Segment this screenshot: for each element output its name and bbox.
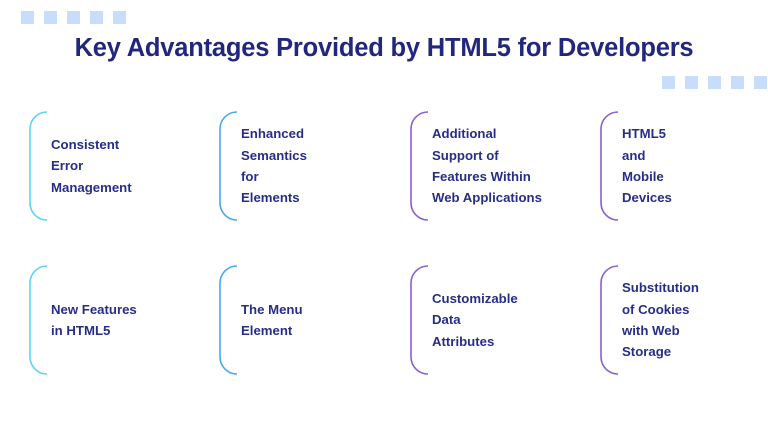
decor-squares-right [662,76,767,89]
decor-square [662,76,675,89]
decor-square [44,11,57,24]
card-label: The Menu Element [218,299,307,342]
cards-grid: Consistent Error Management Enhanced Sem… [0,110,768,418]
decor-squares-top-left [21,11,126,24]
card[interactable]: New Features in HTML5 [28,264,204,376]
card-label: HTML5 and Mobile Devices [599,123,676,209]
card-label: Customizable Data Attributes [409,288,522,352]
decor-square [90,11,103,24]
card[interactable]: Consistent Error Management [28,110,204,222]
card-label: Enhanced Semantics for Elements [218,123,311,209]
decor-square [67,11,80,24]
card[interactable]: Substitution of Cookies with Web Storage [599,264,768,376]
card-label: Substitution of Cookies with Web Storage [599,277,703,363]
card-label: Consistent Error Management [28,134,136,198]
card[interactable]: Enhanced Semantics for Elements [218,110,394,222]
decor-square [113,11,126,24]
decor-square [754,76,767,89]
card[interactable]: Additional Support of Features Within We… [409,110,585,222]
card[interactable]: HTML5 and Mobile Devices [599,110,768,222]
page-title: Key Advantages Provided by HTML5 for Dev… [0,34,768,63]
card[interactable]: Customizable Data Attributes [409,264,585,376]
decor-square [21,11,34,24]
decor-square [685,76,698,89]
card-label: New Features in HTML5 [28,299,141,342]
card[interactable]: The Menu Element [218,264,394,376]
card-row-1: Consistent Error Management Enhanced Sem… [0,110,768,222]
decor-square [708,76,721,89]
card-label: Additional Support of Features Within We… [409,123,546,209]
card-row-2: New Features in HTML5 The Menu Element C… [0,264,768,376]
decor-square [731,76,744,89]
